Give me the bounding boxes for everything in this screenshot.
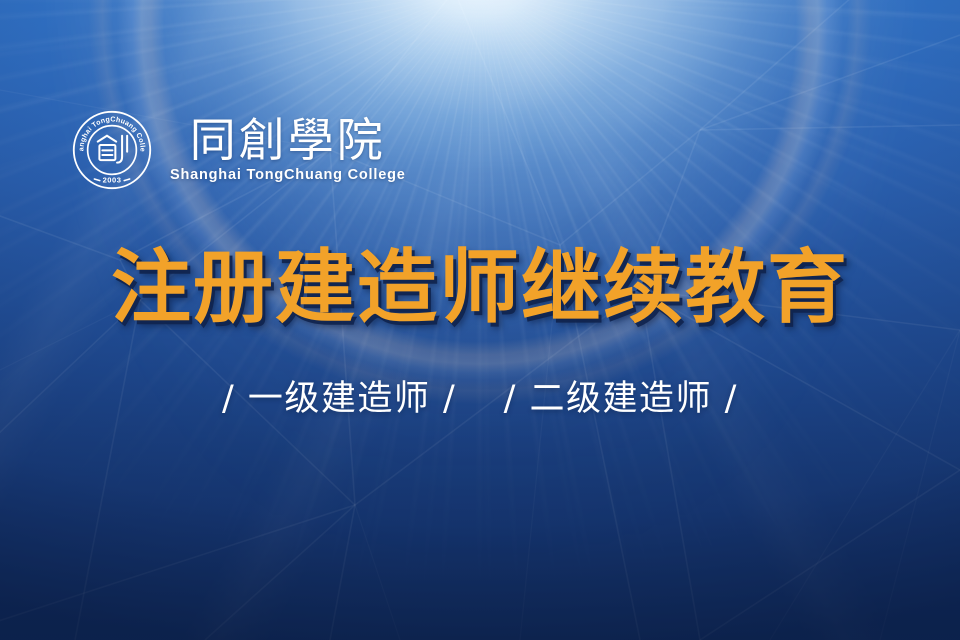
wordmark-english: Shanghai TongChuang College (170, 167, 406, 183)
subtitle-group: / 一级建造师 / / 二级建造师 / (0, 378, 960, 420)
wordmark: 同創學院 Shanghai TongChuang College (170, 117, 406, 184)
svg-text:2003: 2003 (103, 175, 122, 184)
page-title: 注册建造师继续教育 (0, 248, 960, 328)
wordmark-chinese: 同創學院 (190, 117, 386, 165)
banner-content: Shanghai TongChuang College 2003 (0, 0, 960, 640)
subtitle-level-2: / 二级建造师 / (504, 379, 738, 419)
seal-emblem-icon: Shanghai TongChuang College 2003 (70, 108, 154, 192)
logo-lockup: Shanghai TongChuang College 2003 (70, 108, 406, 192)
subtitle-level-1: / 一级建造师 / (222, 379, 456, 419)
promo-banner: Shanghai TongChuang College 2003 (0, 0, 960, 640)
